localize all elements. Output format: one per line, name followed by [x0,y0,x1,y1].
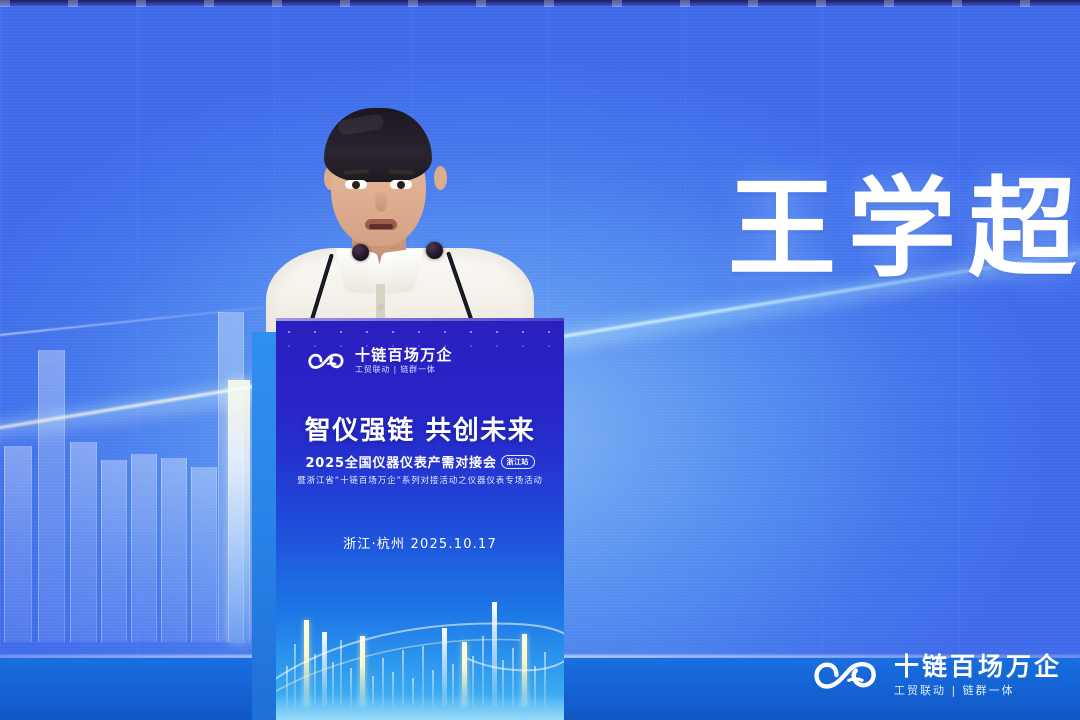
podium-logo-sub-text: 工贸联动 | 链群一体 [355,366,453,374]
podium-side-panel [252,332,278,720]
ceiling-light-dots [0,0,1080,7]
speaker-nose [375,192,387,212]
podium-subtitle-secondary: 暨浙江省“十链百场万企”系列对接活动之仪器仪表专场活动 [276,474,564,486]
speaker-name-display: 王学超 [728,176,1080,284]
podium-date-location: 浙江·杭州 2025.10.17 [276,533,564,552]
watermark-sub-text: 工贸联动 | 链群一体 [894,685,1062,696]
watermark-logo: 十链百场万企 工贸联动 | 链群一体 [810,652,1062,698]
podium-front-panel: 十链百场万企 工贸联动 | 链群一体 智仪强链 共创未来 2025全国仪器仪表产… [276,318,564,720]
speaker-ear-right [434,166,447,190]
podium-headline: 智仪强链 共创未来 [276,410,564,447]
podium-bottom-glow [276,694,564,720]
speaker-mouth [365,219,397,230]
stage-photo: 王学超 [0,0,1080,720]
podium-logo: 十链百场万企 工贸联动 | 链群一体 [306,348,453,374]
watermark-main-text: 十链百场万企 [894,654,1062,679]
podium-swoosh-graphic [276,614,564,698]
speaker-eye-left [345,180,367,189]
infinity-logo-icon [810,652,884,698]
speaker-eye-right [390,180,412,189]
podium-subtitle-main: 2025全国仪器仪表产需对接会 [305,452,496,471]
podium-subtitle-main-row: 2025全国仪器仪表产需对接会 浙江站 [276,452,564,471]
podium-subtitle-badge: 浙江站 [501,455,535,469]
speaker-figure [248,108,548,340]
podium-lower-graphic [276,590,564,720]
microphone-capsule [352,244,369,261]
podium-logo-main-text: 十链百场万企 [355,348,453,363]
microphone-capsule [426,242,443,259]
infinity-logo-icon [306,348,348,374]
podium-top-highlight [276,318,564,321]
shirt-button [378,304,384,310]
speaker-hair [324,108,432,182]
speaker-name-text: 王学超 [728,176,1080,284]
podium: 十链百场万企 工贸联动 | 链群一体 智仪强链 共创未来 2025全国仪器仪表产… [252,318,564,720]
